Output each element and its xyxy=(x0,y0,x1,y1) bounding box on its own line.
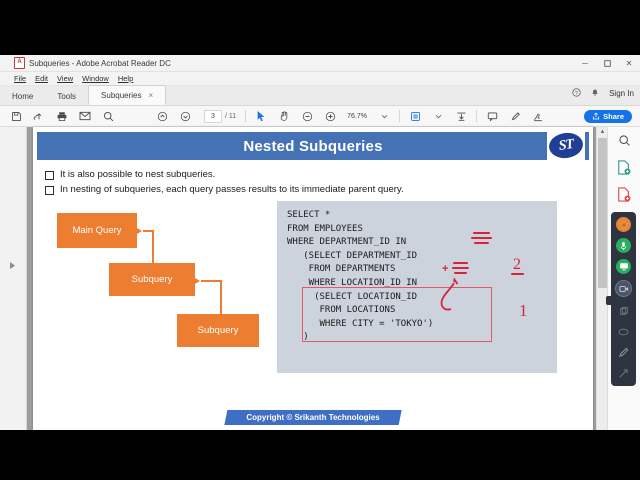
menu-file-label: File xyxy=(14,74,26,83)
pen-tool-icon[interactable] xyxy=(616,345,631,360)
file-tools-group xyxy=(10,110,114,122)
page-total-label: / 11 xyxy=(225,113,236,120)
title-bar: A Subqueries - Adobe Acrobat Reader DC ─… xyxy=(0,55,640,72)
page-indicator: 3 / 11 xyxy=(204,110,236,123)
close-button[interactable]: ✕ xyxy=(618,55,640,71)
bell-icon[interactable] xyxy=(591,84,599,102)
title-bar-left: A Subqueries - Adobe Acrobat Reader DC xyxy=(14,55,171,71)
page-number-input[interactable]: 3 xyxy=(204,110,222,123)
svg-text:?: ? xyxy=(575,91,578,97)
srikanth-technologies-logo: ST xyxy=(547,129,585,161)
menu-help[interactable]: Help xyxy=(118,74,133,83)
menu-bar: File Edit View Window Help xyxy=(0,72,640,86)
create-pdf-icon[interactable] xyxy=(616,186,633,203)
highlight-pen-icon[interactable] xyxy=(509,110,521,122)
menu-view[interactable]: View xyxy=(57,74,73,83)
record-ball-icon[interactable] xyxy=(616,217,631,232)
chevron-down-icon[interactable] xyxy=(378,110,390,122)
bullet-list: It is also possible to nest subqueries. … xyxy=(45,169,593,195)
acrobat-icon: A xyxy=(14,57,25,69)
tab-tools[interactable]: Tools xyxy=(45,87,88,105)
annotation-stroke xyxy=(473,232,490,234)
tab-strip: Home Tools Subqueries × ? Sign In xyxy=(0,86,640,106)
pdf-page: Nested Subqueries ST It is also possible… xyxy=(33,127,593,430)
ellipse-tool-icon[interactable] xyxy=(616,324,631,339)
flow-box-main-query: Main Query xyxy=(57,213,137,248)
clipboard-icon[interactable] xyxy=(616,303,631,318)
tab-subqueries-label: Subqueries xyxy=(101,91,141,100)
view-tools-group: 76.7% xyxy=(255,110,390,122)
menu-help-label: Help xyxy=(118,74,133,83)
sql-code-panel: SELECT * FROM EMPLOYEES WHERE DEPARTMENT… xyxy=(277,201,557,373)
bullet-text: In nesting of subqueries, each query pas… xyxy=(60,184,404,195)
zoom-out-icon[interactable] xyxy=(301,110,313,122)
tab-home[interactable]: Home xyxy=(0,87,45,105)
tab-strip-right: ? Sign In xyxy=(572,84,634,102)
annotation-stroke xyxy=(474,242,489,244)
search-tool-icon[interactable] xyxy=(616,132,633,149)
minimize-button[interactable]: ─ xyxy=(574,55,596,71)
tab-tools-label: Tools xyxy=(57,92,76,101)
slide-header: Nested Subqueries ST xyxy=(37,132,589,160)
fit-page-icon[interactable] xyxy=(409,110,421,122)
acrobat-window: A Subqueries - Adobe Acrobat Reader DC ─… xyxy=(0,55,640,430)
restore-button[interactable] xyxy=(596,55,618,71)
slide-footer: Copyright © Srikanth Technologies xyxy=(33,410,593,425)
window-controls: ─ ✕ xyxy=(574,55,640,71)
arrow-tool-icon[interactable] xyxy=(616,366,631,381)
cursor-select-icon[interactable] xyxy=(255,110,267,122)
sign-icon[interactable] xyxy=(532,110,544,122)
flow-connector-vertical xyxy=(220,280,222,315)
logo-text: ST xyxy=(558,136,574,154)
recording-toolbar-handle[interactable] xyxy=(606,296,611,305)
flow-box-label: Main Query xyxy=(72,225,121,236)
flow-arrowhead xyxy=(195,278,200,284)
menu-window[interactable]: Window xyxy=(82,74,109,83)
help-circle-icon[interactable]: ? xyxy=(572,84,581,102)
hand-pan-icon[interactable] xyxy=(278,110,290,122)
menu-edit[interactable]: Edit xyxy=(35,74,48,83)
screen-share-icon[interactable] xyxy=(616,259,631,274)
chevron-down-icon[interactable] xyxy=(432,110,444,122)
save-icon[interactable] xyxy=(10,110,22,122)
flow-box-label: Subquery xyxy=(132,274,173,285)
page-up-icon[interactable] xyxy=(156,110,168,122)
export-pdf-icon[interactable] xyxy=(616,159,633,176)
menu-view-label: View xyxy=(57,74,73,83)
annotation-stroke xyxy=(471,237,492,239)
annotation-curved-arrow xyxy=(427,273,467,315)
share-button[interactable]: Share xyxy=(584,110,632,123)
document-area: Nested Subqueries ST It is also possible… xyxy=(0,127,640,430)
page-title: Nested Subqueries xyxy=(243,138,382,155)
webcam-icon[interactable] xyxy=(615,280,632,297)
annotation-stroke xyxy=(511,273,524,275)
expand-nav-pane-icon[interactable] xyxy=(10,262,15,269)
main-toolbar: 3 / 11 76.7% xyxy=(0,106,640,127)
page-nav-group: 3 / 11 xyxy=(156,110,236,123)
menu-file[interactable]: File xyxy=(14,74,26,83)
toolbar-separator-2 xyxy=(399,110,400,122)
slide-content: Main Query Subquery Subquery xyxy=(33,201,593,381)
annotation-stroke xyxy=(453,262,468,264)
flow-box-subquery-1: Subquery xyxy=(109,263,195,296)
bullet-text: It is also possible to nest subqueries. xyxy=(60,169,215,180)
flow-box-subquery-2: Subquery xyxy=(177,314,259,347)
fit-tools-group xyxy=(409,110,467,122)
share-icon xyxy=(592,112,600,120)
annotate-tools-group xyxy=(486,110,544,122)
print-icon[interactable] xyxy=(56,110,68,122)
tab-subqueries[interactable]: Subqueries × xyxy=(88,85,166,105)
share-label: Share xyxy=(603,112,624,121)
checkbox-bullet-icon xyxy=(45,186,54,195)
page-down-icon[interactable] xyxy=(179,110,191,122)
window-title: Subqueries - Adobe Acrobat Reader DC xyxy=(29,59,171,68)
scrollbar-thumb[interactable] xyxy=(598,138,607,288)
toolbar-separator-3 xyxy=(476,110,477,122)
toolbar-separator-1 xyxy=(245,110,246,122)
comment-icon[interactable] xyxy=(486,110,498,122)
bullet-item: It is also possible to nest subqueries. xyxy=(45,169,593,180)
zoom-level-label[interactable]: 76.7% xyxy=(347,113,367,120)
microphone-icon[interactable] xyxy=(616,238,631,253)
close-icon[interactable]: × xyxy=(149,91,154,100)
flow-arrowhead xyxy=(137,228,142,234)
sign-in-button[interactable]: Sign In xyxy=(609,89,634,98)
screen: A Subqueries - Adobe Acrobat Reader DC ─… xyxy=(0,0,640,480)
flow-connector-horizontal xyxy=(143,230,154,232)
menu-edit-label: Edit xyxy=(35,74,48,83)
recording-toolbar xyxy=(611,212,636,386)
bullet-item: In nesting of subqueries, each query pas… xyxy=(45,184,593,195)
tab-home-label: Home xyxy=(12,92,33,101)
left-nav-rail xyxy=(0,127,27,430)
fit-width-icon[interactable] xyxy=(455,110,467,122)
flow-box-label: Subquery xyxy=(198,325,239,336)
flow-connector-horizontal xyxy=(201,280,222,282)
checkbox-bullet-icon xyxy=(45,171,54,180)
upload-cloud-icon[interactable] xyxy=(33,110,45,122)
menu-window-label: Window xyxy=(82,74,109,83)
annotation-stroke xyxy=(452,267,469,269)
email-icon[interactable] xyxy=(79,110,91,122)
flow-connector-vertical xyxy=(152,230,154,264)
search-icon[interactable] xyxy=(102,110,114,122)
copyright-banner: Copyright © Srikanth Technologies xyxy=(224,410,401,425)
zoom-in-icon[interactable] xyxy=(324,110,336,122)
